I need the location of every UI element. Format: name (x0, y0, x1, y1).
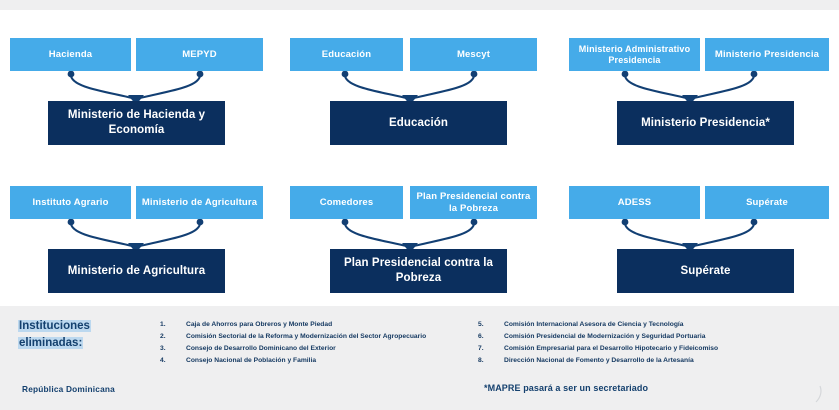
list-item-number: 5. (478, 322, 504, 329)
source-box[interactable]: Instituto Agrario (10, 186, 131, 219)
list-item: 7. Comisión Empresarial para el Desarrol… (478, 343, 828, 355)
source-box[interactable]: Mescyt (410, 38, 537, 71)
source-box[interactable]: Supérate (705, 186, 829, 219)
target-box[interactable]: Supérate (617, 249, 794, 293)
list-item-label: Comisión Sectorial de la Reforma y Moder… (186, 334, 490, 341)
list-item: 4. Consejo Nacional de Población y Famil… (160, 356, 490, 368)
list-item: 5. Comisión Internacional Asesora de Cie… (478, 319, 828, 331)
eliminated-list-right: 5. Comisión Internacional Asesora de Cie… (478, 319, 828, 368)
list-item-number: 7. (478, 346, 504, 353)
list-item-number: 3. (160, 346, 186, 353)
eliminated-institutions-title: Instituciones eliminadas: (18, 318, 148, 351)
list-item: 2. Comisión Sectorial de la Reforma y Mo… (160, 331, 490, 343)
list-item: 6. Comisión Presidencial de Modernizació… (478, 331, 828, 343)
list-item-number: 8. (478, 358, 504, 365)
list-item-label: Caja de Ahorros para Obreros y Monte Pie… (186, 322, 490, 329)
merger-group-agricultura: Instituto Agrario Ministerio de Agricult… (0, 148, 280, 308)
source-box[interactable]: Ministerio Administrativo Presidencia (569, 38, 700, 71)
target-box[interactable]: Plan Presidencial contra la Pobreza (330, 249, 507, 293)
source-box[interactable]: Ministerio Presidencia (705, 38, 829, 71)
source-box[interactable]: Plan Presidencial contra la Pobreza (410, 186, 537, 219)
target-box[interactable]: Educación (330, 101, 507, 145)
merger-group-educacion: Educación Mescyt Educación (280, 0, 560, 160)
source-box[interactable]: Comedores (290, 186, 403, 219)
merger-group-presidencia: Ministerio Administrativo Presidencia Mi… (560, 0, 839, 160)
list-item-label: Consejo Nacional de Población y Familia (186, 358, 490, 365)
merger-group-superate: ADESS Supérate Supérate (560, 148, 839, 308)
slide-canvas: Hacienda MEPYD Ministerio de Hacienda y … (0, 0, 839, 410)
source-box[interactable]: MEPYD (136, 38, 263, 71)
eliminated-title-line1: Instituciones (18, 320, 91, 332)
list-item-label: Dirección Nacional de Fomento y Desarrol… (504, 358, 828, 365)
list-item: 3. Consejo de Desarrollo Dominicano del … (160, 343, 490, 355)
list-item-label: Comisión Internacional Asesora de Cienci… (504, 322, 828, 329)
source-box[interactable]: Hacienda (10, 38, 131, 71)
mapre-footnote: *MAPRE pasará a ser un secretariado (484, 383, 648, 393)
source-box[interactable]: Ministerio de Agricultura (136, 186, 263, 219)
target-box[interactable]: Ministerio de Agricultura (48, 249, 225, 293)
republic-label: República Dominicana (22, 384, 115, 394)
eliminated-list-left: 1. Caja de Ahorros para Obreros y Monte … (160, 319, 490, 368)
list-item-label: Comisión Presidencial de Modernización y… (504, 334, 828, 341)
list-item-number: 6. (478, 334, 504, 341)
target-box[interactable]: Ministerio Presidencia* (617, 101, 794, 145)
list-item-number: 4. (160, 358, 186, 365)
source-box[interactable]: Educación (290, 38, 403, 71)
list-item-number: 2. (160, 334, 186, 341)
corner-swoosh-icon (809, 384, 825, 404)
source-box[interactable]: ADESS (569, 186, 700, 219)
eliminated-title-line2: eliminadas: (18, 337, 83, 349)
merger-group-pobreza: Comedores Plan Presidencial contra la Po… (280, 148, 560, 308)
list-item-label: Consejo de Desarrollo Dominicano del Ext… (186, 346, 490, 353)
target-box[interactable]: Ministerio de Hacienda y Economía (48, 101, 225, 145)
list-item-number: 1. (160, 322, 186, 329)
list-item: 8. Dirección Nacional de Fomento y Desar… (478, 356, 828, 368)
merger-group-hacienda: Hacienda MEPYD Ministerio de Hacienda y … (0, 0, 280, 160)
list-item-label: Comisión Empresarial para el Desarrollo … (504, 346, 828, 353)
list-item: 1. Caja de Ahorros para Obreros y Monte … (160, 319, 490, 331)
